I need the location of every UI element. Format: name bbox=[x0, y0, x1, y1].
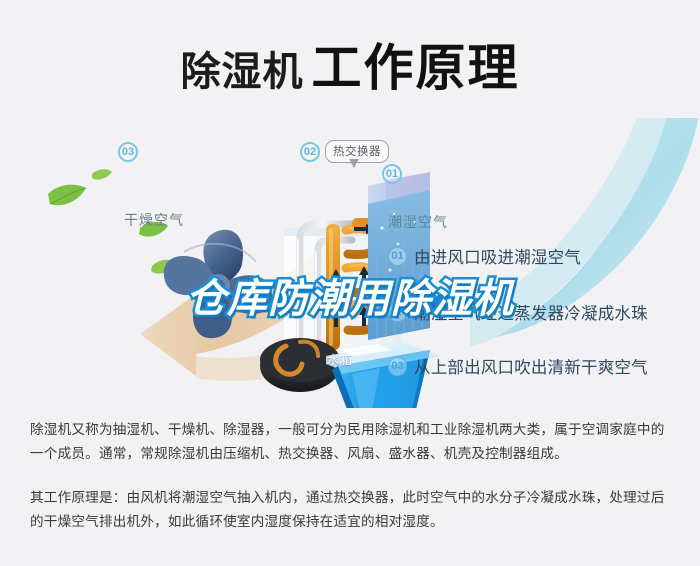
page-title-part1: 除湿机 bbox=[181, 50, 304, 94]
diagram-badge-02: 02 bbox=[300, 142, 320, 162]
body-paragraph-1: 除湿机又称为抽湿机、干燥机、除湿器，一般可分为民用除湿机和工业除湿机两大类，属于… bbox=[30, 418, 675, 466]
page-title-part2: 工作原理 bbox=[312, 40, 520, 96]
overlay-headline: 仓库防潮用除湿机 bbox=[0, 266, 700, 324]
list-item: 03 从上部出风口吹出清新干爽空气 bbox=[388, 352, 688, 380]
water-tank-label: 水箱 bbox=[327, 351, 353, 368]
step-badge-03: 03 bbox=[388, 357, 407, 376]
diagram-badge-03: 03 bbox=[118, 142, 138, 162]
body-paragraph-2: 其工作原理是：由风机将潮湿空气抽入机内，通过热交换器，此时空气中的水分子冷凝成水… bbox=[30, 486, 675, 534]
step-text-01: 由进风口吸进潮湿空气 bbox=[414, 244, 581, 268]
step-badge-01: 01 bbox=[388, 247, 407, 266]
page-root: 除湿机工作原理 bbox=[0, 0, 700, 566]
callout-tail-icon bbox=[349, 159, 359, 168]
diagram-badge-01: 01 bbox=[382, 164, 402, 184]
page-title: 除湿机工作原理 bbox=[0, 28, 700, 100]
step-text-03: 从上部出风口吹出清新干爽空气 bbox=[414, 354, 648, 378]
leaf-icon-group bbox=[48, 169, 177, 273]
